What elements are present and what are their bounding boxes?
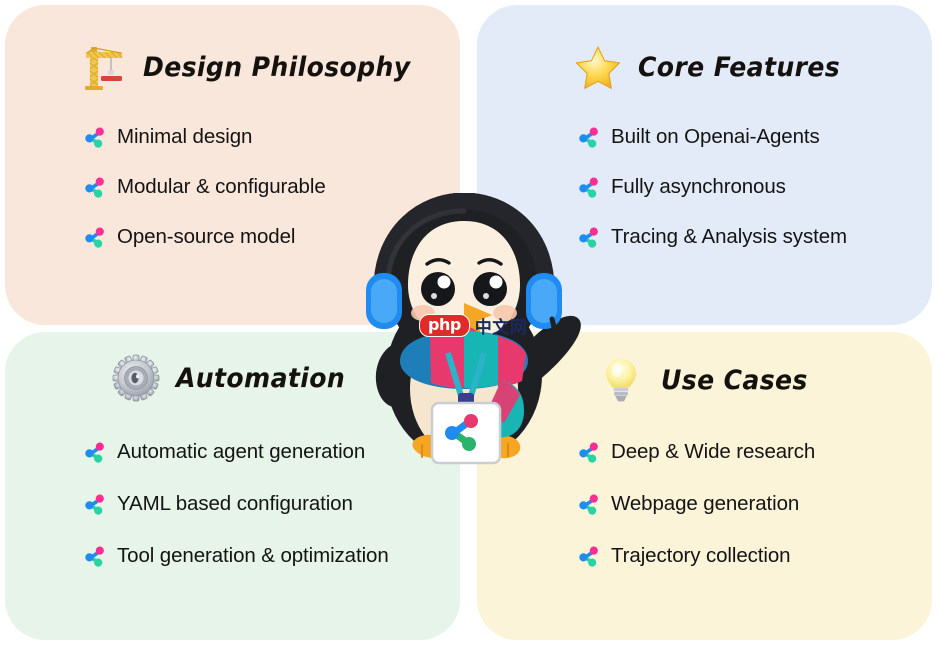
bullet-list: Built on Openai-Agents Fully asynchronou… (577, 125, 847, 249)
bullet-item: Trajectory collection (577, 544, 815, 568)
share-nodes-icon (577, 544, 601, 568)
share-nodes-icon (83, 225, 107, 249)
bullet-label: Webpage generation (611, 492, 799, 516)
card-header: Use Cases (595, 354, 819, 406)
share-nodes-icon (83, 125, 107, 149)
bullet-label: Built on Openai-Agents (611, 125, 820, 149)
card-header: Design Philosophy (77, 41, 431, 93)
bullet-item: Automatic agent generation (83, 440, 389, 464)
share-nodes-icon (577, 440, 601, 464)
share-nodes-icon (83, 440, 107, 464)
share-nodes-icon (577, 175, 601, 199)
card-title: Use Cases (661, 365, 808, 396)
share-nodes-icon (83, 175, 107, 199)
bullet-list: Automatic agent generation YAML based co… (83, 440, 389, 568)
bullet-label: Tool generation & optimization (117, 544, 389, 568)
gear-icon (110, 352, 162, 404)
star-icon (572, 41, 624, 93)
card-title: Automation (176, 363, 345, 394)
card-header: Automation (110, 352, 358, 404)
lightbulb-icon (595, 354, 647, 406)
bullet-item: Webpage generation (577, 492, 815, 516)
share-nodes-icon (83, 544, 107, 568)
bullet-label: Trajectory collection (611, 544, 790, 568)
bullet-item: Modular & configurable (83, 175, 326, 199)
bullet-item: YAML based configuration (83, 492, 389, 516)
bullet-label: Tracing & Analysis system (611, 225, 847, 249)
share-nodes-icon (83, 492, 107, 516)
bullet-item: Fully asynchronous (577, 175, 847, 199)
bullet-item: Built on Openai-Agents (577, 125, 847, 149)
bullet-label: Modular & configurable (117, 175, 326, 199)
share-nodes-icon (577, 225, 601, 249)
bullet-label: Deep & Wide research (611, 440, 815, 464)
card-title: Core Features (638, 52, 840, 83)
bullet-item: Minimal design (83, 125, 326, 149)
card-automation: Automation Automatic agent generation (5, 332, 460, 640)
card-use-cases: Use Cases Deep & Wide research (477, 332, 932, 640)
bullet-label: YAML based configuration (117, 492, 353, 516)
card-core-features: Core Features Built on Openai-Agents (477, 5, 932, 325)
share-nodes-icon (577, 492, 601, 516)
share-nodes-icon (577, 125, 601, 149)
bullet-label: Automatic agent generation (117, 440, 365, 464)
construction-crane-icon (77, 41, 129, 93)
bullet-label: Fully asynchronous (611, 175, 786, 199)
card-design-philosophy: Design Philosophy Minimal design (5, 5, 460, 325)
infographic-poster: Design Philosophy Minimal design (0, 0, 939, 651)
card-header: Core Features (572, 41, 855, 93)
bullet-item: Deep & Wide research (577, 440, 815, 464)
bullet-item: Tracing & Analysis system (577, 225, 847, 249)
card-title: Design Philosophy (143, 52, 411, 83)
bullet-item: Tool generation & optimization (83, 544, 389, 568)
bullet-list: Minimal design Modular & configurable (83, 125, 326, 249)
bullet-label: Open-source model (117, 225, 295, 249)
bullet-label: Minimal design (117, 125, 252, 149)
bullet-list: Deep & Wide research Webpage generation (577, 440, 815, 568)
bullet-item: Open-source model (83, 225, 326, 249)
